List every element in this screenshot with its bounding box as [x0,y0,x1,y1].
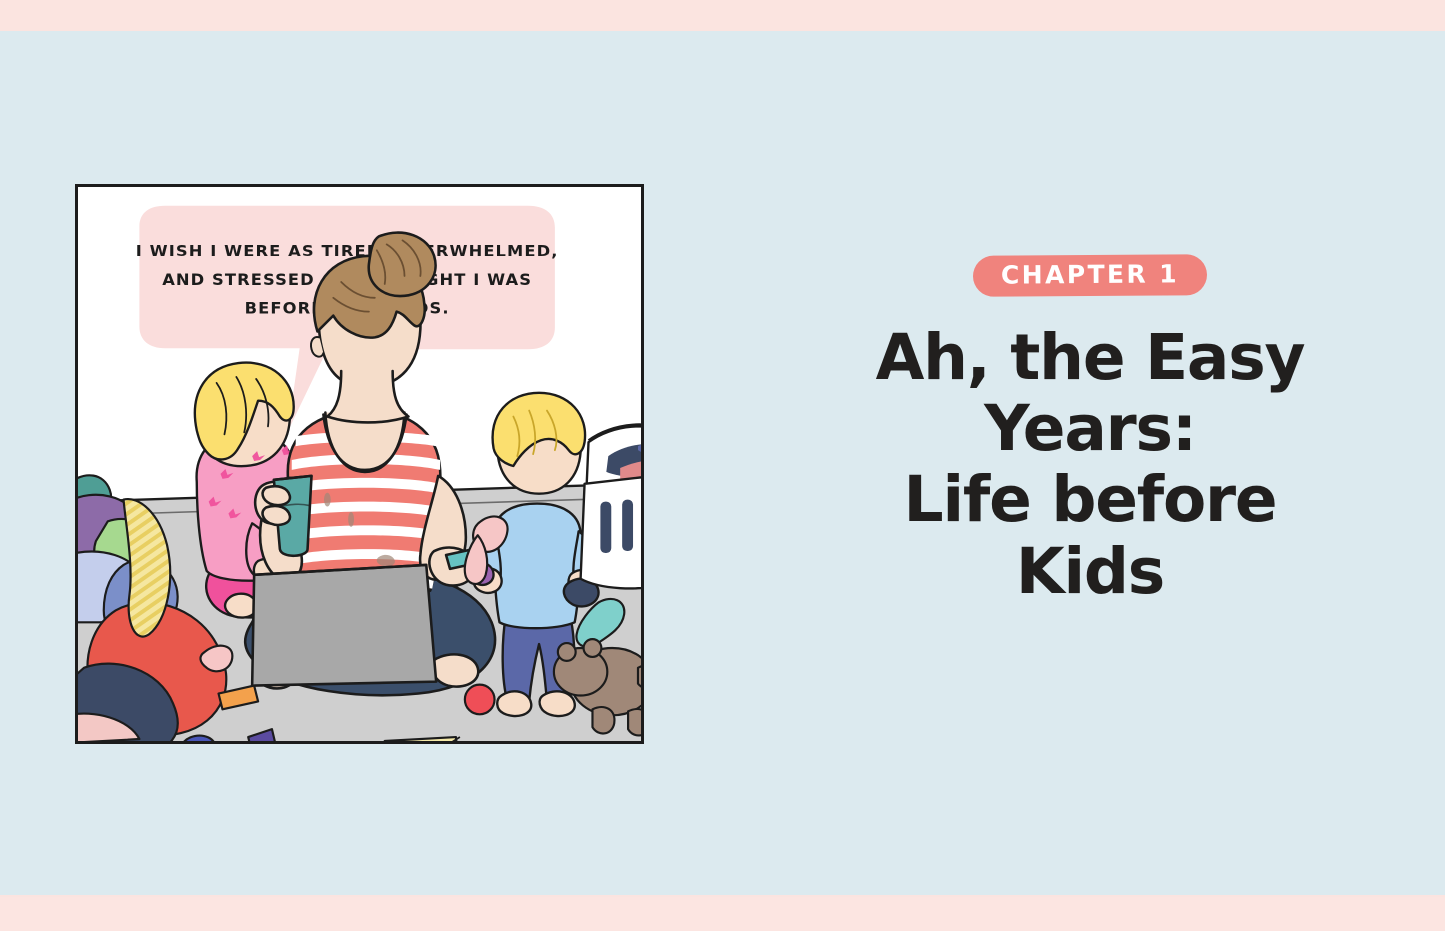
comic-panel: I WISH I WERE AS TIRED, OVERWHELMED, AND… [75,184,644,744]
title-line-4: Kids [830,536,1350,607]
svg-text:I WISH I WERE AS TIRED, OVERWH: I WISH I WERE AS TIRED, OVERWHELMED, [136,241,559,260]
title-line-3: Life before [830,464,1350,535]
chapter-badge: CHAPTER 1 [973,254,1207,297]
title-line-1: Ah, the Easy [830,322,1350,393]
bottom-color-band [0,897,1445,931]
page-title: Ah, the Easy Years: Life before Kids [830,322,1350,607]
chapter-title-column: CHAPTER 1 Ah, the Easy Years: Life befor… [830,255,1350,607]
top-color-band [0,0,1445,30]
laundry-basket [581,424,641,588]
title-line-2: Years: [830,393,1350,464]
page-root: I WISH I WERE AS TIRED, OVERWHELMED, AND… [0,0,1445,931]
